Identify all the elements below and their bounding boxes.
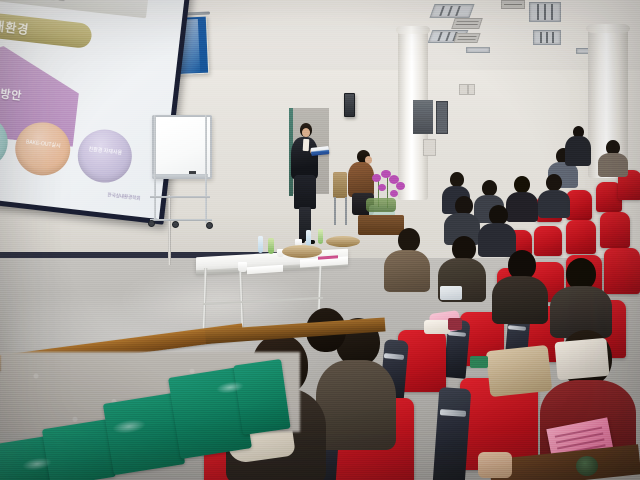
tissue-pack	[424, 320, 450, 334]
audience-seat	[534, 226, 562, 256]
wall-panel-dark	[436, 101, 448, 134]
ceiling-light-icon	[533, 30, 561, 45]
audience-torso	[565, 136, 591, 166]
ceiling-light-icon	[529, 2, 561, 22]
whiteboard-marker-icon	[189, 171, 196, 174]
projection-screen: 쾌적한 실내공기질 대책방안 쾌적한 실내환경 실내공기질 대책방안 환기설비 …	[0, 0, 191, 225]
whiteboard-caster	[206, 222, 213, 229]
presenter-blouse	[303, 139, 310, 151]
ceiling-vent-icon	[451, 18, 483, 29]
attendee-jacket	[348, 162, 374, 197]
foreground-bench-seat	[42, 419, 116, 480]
paper-cup	[238, 262, 247, 272]
audience-seat	[566, 220, 596, 254]
mobile-whiteboard	[152, 115, 212, 179]
audience-seat	[604, 248, 640, 294]
audience-head	[489, 205, 508, 225]
audience-torso	[316, 360, 396, 450]
green-item	[470, 356, 488, 368]
projected-slide: 쾌적한 실내공기질 대책방안 쾌적한 실내환경 실내공기질 대책방안 환기설비 …	[0, 0, 185, 219]
chair-leg	[345, 197, 347, 225]
screen-stand-pole	[168, 195, 171, 265]
slide-bubble-label: 흡연구역 분리설치	[0, 132, 5, 144]
presenter-skirt	[294, 175, 316, 209]
orchid-petal	[396, 182, 405, 190]
ceiling-vent-icon	[501, 0, 525, 9]
ceiling-light-icon	[466, 47, 490, 53]
green-tea-bottle	[318, 229, 323, 244]
water-bottle	[306, 230, 311, 246]
ceiling-vent-icon	[453, 33, 480, 43]
dark-cup	[576, 456, 598, 476]
red-item	[448, 318, 462, 330]
white-item	[440, 286, 462, 300]
whiteboard-leg	[154, 115, 156, 220]
seminar-room-photograph: 발표회 표회 국대학교 환경공학과 쾌적한 실내공기질 대책방안 쾌적한 실내환…	[0, 0, 640, 480]
tote-bag	[486, 345, 552, 397]
wall-cabinet	[413, 100, 433, 134]
slide-footer-text: 한국실내환경학회	[37, 184, 141, 202]
hand-holding-tissue	[478, 452, 512, 478]
audience-head	[546, 174, 562, 191]
audience-head	[450, 172, 464, 187]
whiteboard-base-bar	[150, 219, 212, 221]
audience-torso	[492, 276, 548, 324]
seat-side-panel	[433, 387, 472, 480]
orchid-petal	[372, 174, 381, 182]
whiteboard-marker-tray	[152, 174, 208, 177]
audience-head	[398, 228, 420, 252]
flower-stand	[358, 215, 404, 235]
column-capital	[586, 24, 630, 33]
green-tea-bottle	[268, 238, 274, 254]
chair-leg	[334, 197, 336, 225]
column-capital	[396, 26, 430, 34]
flower-foliage	[366, 198, 396, 212]
whiteboard-leg	[205, 115, 207, 223]
whiteboard-caster	[148, 220, 155, 227]
audience-head	[482, 180, 497, 196]
ceiling-light-icon	[429, 4, 474, 18]
whiteboard-crossbar	[150, 196, 210, 198]
whiteboard-caster	[172, 221, 179, 228]
presenter-face	[302, 128, 310, 137]
plastic-bag	[554, 338, 609, 380]
audience-seat	[600, 212, 630, 248]
slide-bubble-label: 친환경 자재사용	[81, 146, 129, 158]
food-plate	[282, 245, 322, 258]
audience-torso	[506, 192, 538, 222]
wall-speaker-icon	[344, 93, 355, 117]
slide-bubble-label: BAKE-OUT실시	[19, 139, 67, 151]
wall-outlet-plate	[468, 84, 475, 95]
audience-torso	[384, 250, 430, 292]
audience-head	[514, 176, 530, 193]
water-bottle	[258, 236, 263, 253]
screen-frame: 쾌적한 실내공기질 대책방안 쾌적한 실내환경 실내공기질 대책방안 환기설비 …	[0, 0, 191, 225]
audience-torso	[598, 153, 628, 177]
wooden-chair	[333, 172, 347, 198]
audience-torso	[538, 190, 570, 218]
wall-outlet-plate	[459, 84, 468, 95]
slide-bubble: 친환경 자재사용	[75, 127, 135, 186]
wall-outlet-plate	[423, 139, 436, 156]
orchid-petal	[378, 184, 386, 191]
food-plate	[326, 236, 360, 247]
audience-torso	[478, 223, 516, 257]
orchid-petal	[390, 190, 398, 197]
foreground-bench-seat	[233, 359, 290, 435]
